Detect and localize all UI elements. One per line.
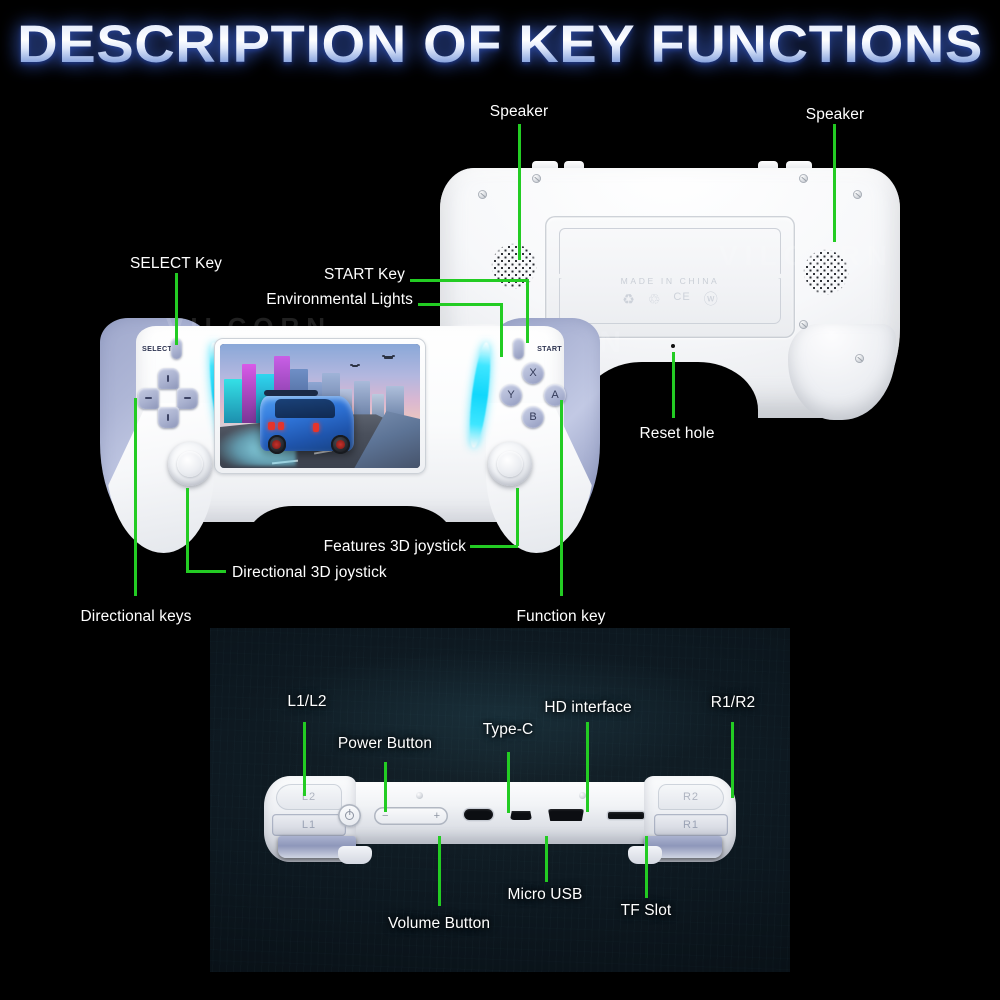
weee-icon: ♲ — [648, 292, 661, 306]
leader-start-key-v — [526, 279, 529, 343]
shoulder-button-l2[interactable]: L2 — [276, 784, 342, 810]
leader-select-key — [175, 273, 178, 345]
joystick-left[interactable] — [168, 442, 212, 486]
speaker-grille-right — [800, 246, 852, 298]
start-key[interactable] — [513, 338, 524, 359]
leader-r1-r2 — [731, 722, 734, 798]
leader-volume-button — [438, 836, 441, 906]
type-c-port[interactable] — [464, 809, 493, 820]
label-volume-button: Volume Button — [388, 915, 490, 933]
car-taillight — [268, 422, 275, 430]
volume-down-icon[interactable]: − — [382, 811, 388, 822]
label-micro-usb: Micro USB — [508, 886, 583, 904]
leader-power-button — [384, 762, 387, 812]
leader-dir-joystick-h — [186, 570, 226, 573]
screen-bezel — [214, 338, 426, 474]
leader-directional-keys — [134, 398, 137, 596]
leader-features-joystick-h — [470, 545, 518, 548]
back-grip-notch — [582, 362, 758, 422]
back-grip-right — [788, 324, 896, 420]
label-power-button: Power Button — [338, 735, 432, 753]
label-select-key: SELECT Key — [130, 255, 222, 273]
label-directional-keys: Directional keys — [80, 608, 191, 626]
screw — [416, 792, 423, 799]
city-building — [224, 379, 242, 424]
button-a[interactable]: A — [544, 384, 566, 406]
compliance-icon: ⓦ — [704, 292, 718, 306]
hd-interface-port[interactable] — [548, 809, 584, 821]
label-type-c: Type-C — [483, 721, 534, 739]
reset-hole-opening — [671, 344, 675, 348]
made-in-china-text: MADE IN CHINA — [545, 276, 795, 286]
car-taillight — [278, 422, 285, 430]
car-window — [275, 399, 335, 418]
shoulder-button-r1[interactable]: R1 — [654, 814, 728, 836]
dpad-left-key[interactable] — [138, 388, 159, 409]
leader-reset-hole — [672, 352, 675, 418]
screw — [855, 354, 864, 363]
leader-dir-joystick-v — [186, 488, 189, 571]
tf-card-slot[interactable] — [608, 812, 644, 819]
hinge-foot-left — [338, 846, 372, 864]
screw — [478, 190, 487, 199]
certification-marks: ♻ ♲ CE ⓦ — [545, 292, 795, 306]
leader-features-joystick-v — [516, 488, 519, 546]
edge-view-panel: L2 R2 L1 R1 − + — [210, 628, 790, 972]
label-start-key: START Key — [324, 266, 405, 284]
device-front-view: SELECT START X Y A B VILCORN — [100, 318, 600, 553]
leader-start-key-h — [410, 279, 528, 282]
label-l1-l2: L1/L2 — [287, 693, 326, 711]
volume-up-icon[interactable]: + — [434, 811, 440, 822]
power-button[interactable] — [338, 804, 361, 827]
label-environmental-lights: Environmental Lights — [266, 291, 413, 309]
joystick-right[interactable] — [488, 442, 532, 486]
screw — [799, 320, 808, 329]
infographic-canvas: DESCRIPTION OF KEY FUNCTIONS MADE IN CHI… — [0, 0, 1000, 1000]
recess-chevron-top — [559, 228, 781, 274]
label-directional-3d-joystick: Directional 3D joystick — [232, 564, 387, 582]
device-edge-view: L2 R2 L1 R1 − + — [264, 776, 736, 872]
leader-env-lights-h — [418, 303, 502, 306]
micro-usb-port[interactable] — [510, 811, 532, 820]
screw — [853, 190, 862, 199]
label-r1-r2: R1/R2 — [711, 694, 755, 712]
button-x[interactable]: X — [522, 362, 544, 384]
leader-hd-interface — [586, 722, 589, 812]
leader-function-key — [560, 400, 563, 596]
button-y[interactable]: Y — [500, 384, 522, 406]
leader-speaker-left — [518, 124, 521, 260]
leader-tf-slot — [645, 836, 648, 898]
leader-env-lights-v — [500, 303, 503, 357]
label-hd-interface: HD interface — [544, 699, 631, 717]
label-function-key: Function key — [516, 608, 605, 626]
city-building — [242, 364, 256, 424]
car-spoiler — [264, 390, 319, 396]
dpad-down-key[interactable] — [158, 407, 179, 428]
screw — [579, 792, 586, 799]
face-button-cluster[interactable]: X Y A B — [500, 362, 566, 428]
label-speaker-left: Speaker — [490, 103, 548, 121]
start-key-text: START — [537, 344, 562, 353]
label-tf-slot: TF Slot — [621, 902, 672, 920]
speaker-grille-left — [488, 240, 540, 292]
game-screen[interactable] — [220, 344, 420, 468]
power-icon — [345, 811, 354, 820]
button-b[interactable]: B — [522, 406, 544, 428]
leader-type-c — [507, 752, 510, 813]
label-speaker-right: Speaker — [806, 106, 864, 124]
panel-glow — [256, 649, 743, 780]
recycle-icon: ♻ — [622, 292, 635, 306]
car-taillight — [313, 423, 320, 431]
game-car — [260, 396, 354, 451]
leader-micro-usb — [545, 836, 548, 882]
select-key-text: SELECT — [142, 344, 172, 353]
directional-pad[interactable] — [138, 368, 198, 428]
page-title: DESCRIPTION OF KEY FUNCTIONS — [0, 14, 1000, 75]
ce-mark-icon: CE — [673, 292, 690, 306]
shoulder-button-l1[interactable]: L1 — [272, 814, 346, 836]
dpad-up-key[interactable] — [158, 368, 179, 389]
shoulder-button-r2[interactable]: R2 — [658, 784, 724, 810]
car-wheel — [268, 435, 287, 454]
label-features-3d-joystick: Features 3D joystick — [324, 538, 466, 556]
label-reset-hole: Reset hole — [639, 425, 714, 443]
leader-l1-l2 — [303, 722, 306, 796]
dpad-right-key[interactable] — [177, 388, 198, 409]
game-drone — [352, 365, 358, 367]
screw — [532, 174, 541, 183]
leader-speaker-right — [833, 124, 836, 242]
screw — [799, 174, 808, 183]
game-drone — [384, 356, 393, 359]
